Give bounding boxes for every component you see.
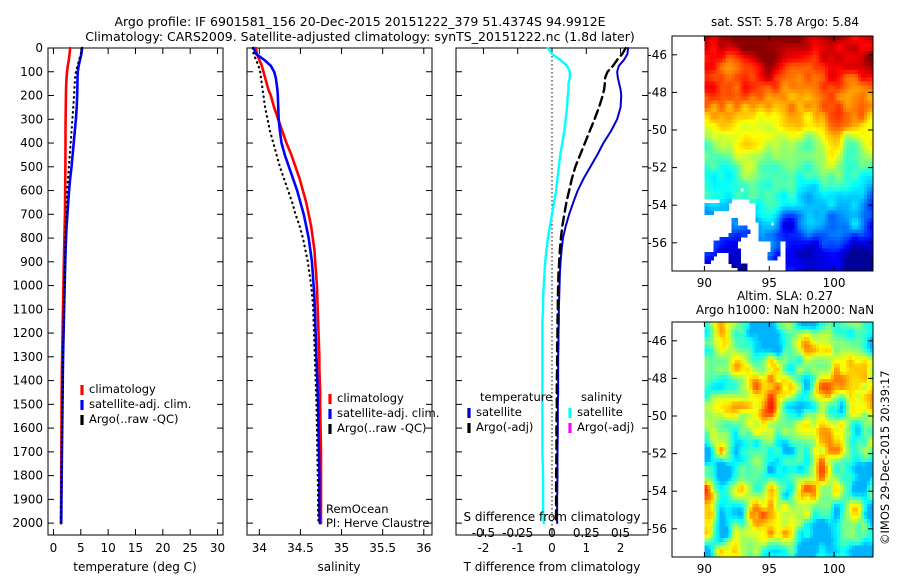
y-tick-label: 300 — [20, 112, 43, 126]
temperature-xlabel: temperature (deg C) — [73, 560, 196, 574]
x-tick-label: 20 — [155, 541, 170, 555]
remocean-annotation: RemOcean — [326, 502, 389, 516]
sla-map-panel: Altim. SLA: 0.27 Argo h1000: NaN h2000: … — [647, 289, 874, 576]
map-y-tick-label: -56 — [647, 236, 667, 250]
argo-profile-figure: Argo profile: IF 6901581_156 20-Dec-2015… — [0, 0, 900, 580]
y-tick-label: 800 — [20, 231, 43, 245]
x-tick-label: 35.5 — [369, 541, 396, 555]
pi-annotation: PI: Herve Claustre — [326, 516, 429, 530]
t-tick-label: 1 — [582, 541, 590, 555]
sst-cell — [710, 210, 714, 214]
map-y-tick-label: -48 — [647, 85, 667, 99]
map-y-tick-label: -46 — [647, 48, 667, 62]
sst-map-image — [672, 36, 874, 272]
legend-label: Argo(-adj) — [577, 420, 634, 434]
x-tick-label: 0 — [50, 541, 58, 555]
legend-group-header-temperature: temperature — [480, 390, 552, 404]
legend-label: Argo(-adj) — [476, 420, 533, 434]
s-tick-label: 0.5 — [611, 526, 630, 540]
y-tick-label: 1700 — [12, 445, 43, 459]
s-tick-label: -0.25 — [502, 526, 533, 540]
x-tick-label: 36 — [416, 541, 431, 555]
y-tick-label: 1300 — [12, 350, 43, 364]
sla-map-image — [672, 322, 874, 558]
legend-label: Argo(..raw -QC) — [337, 421, 427, 435]
sst-map-title: sat. SST: 5.78 Argo: 5.84 — [711, 15, 859, 29]
map-x-tick-label: 100 — [823, 276, 846, 290]
y-tick-label: 1800 — [12, 469, 43, 483]
x-tick-label: 34.5 — [287, 541, 314, 555]
map-y-tick-label: -50 — [647, 123, 667, 137]
y-tick-label: 1100 — [12, 302, 43, 316]
figure-title-line2: Climatology: CARS2009. Satellite-adjuste… — [85, 29, 635, 44]
figure-canvas: Argo profile: IF 6901581_156 20-Dec-2015… — [0, 0, 900, 580]
x-tick-label: 34 — [252, 541, 267, 555]
legend-label: climatology — [337, 391, 404, 405]
legend-label: satellite-adj. clim. — [89, 397, 191, 411]
legend-label: satellite-adj. clim. — [337, 406, 439, 420]
y-tick-label: 400 — [20, 136, 43, 150]
y-tick-label: 500 — [20, 160, 43, 174]
x-tick-label: 15 — [128, 541, 143, 555]
sla-map-title-line2: Argo h1000: NaN h2000: NaN — [696, 303, 874, 317]
sst-cell — [774, 256, 778, 260]
y-tick-label: 1600 — [12, 421, 43, 435]
s-tick-label: 0.25 — [573, 526, 600, 540]
y-tick-label: 1900 — [12, 492, 43, 506]
difference-xlabel-top: S difference from climatology — [464, 510, 641, 524]
x-tick-label: 5 — [77, 541, 85, 555]
s-tick-label: -0.5 — [472, 526, 495, 540]
map-x-tick-label: 95 — [762, 276, 777, 290]
sst-cell — [707, 260, 711, 264]
y-tick-label: 1000 — [12, 279, 43, 293]
legend-group-header-salinity: salinity — [581, 390, 622, 404]
y-tick-label: 1200 — [12, 326, 43, 340]
map-x-tick-label: 90 — [697, 276, 712, 290]
t-tick-label: 0 — [548, 541, 556, 555]
salinity-xlabel: salinity — [317, 560, 360, 574]
x-tick-label: 35 — [334, 541, 349, 555]
x-tick-label: 10 — [101, 541, 116, 555]
y-tick-label: 1400 — [12, 374, 43, 388]
y-tick-label: 1500 — [12, 397, 43, 411]
y-tick-label: 0 — [35, 41, 43, 55]
legend-label: satellite — [476, 405, 522, 419]
t-tick-label: -1 — [512, 541, 524, 555]
legend-label: satellite — [577, 405, 623, 419]
legend-label: climatology — [89, 382, 156, 396]
y-tick-label: 700 — [20, 207, 43, 221]
y-tick-label: 100 — [20, 65, 43, 79]
t-tick-label: 2 — [617, 541, 625, 555]
difference-xlabel-bottom: T difference from climatology — [463, 560, 641, 574]
figure-title-line1: Argo profile: IF 6901581_156 20-Dec-2015… — [114, 14, 605, 29]
y-tick-label: 600 — [20, 184, 43, 198]
y-tick-label: 900 — [20, 255, 43, 269]
map-y-tick-label: -52 — [647, 161, 667, 175]
sst-cell — [744, 233, 748, 237]
map-y-tick-label: -54 — [647, 198, 667, 212]
sla-map-title-line1: Altim. SLA: 0.27 — [737, 289, 833, 303]
sst-map-panel: sat. SST: 5.78 Argo: 5.84 9095100-46-48-… — [647, 15, 873, 290]
y-tick-label: 2000 — [12, 516, 43, 530]
legend-label: Argo(..raw -QC) — [89, 412, 179, 426]
y-tick-label: 200 — [20, 89, 43, 103]
t-tick-label: -2 — [477, 541, 489, 555]
x-tick-label: 30 — [210, 541, 225, 555]
x-tick-label: 25 — [183, 541, 198, 555]
sst-cell — [725, 207, 729, 211]
